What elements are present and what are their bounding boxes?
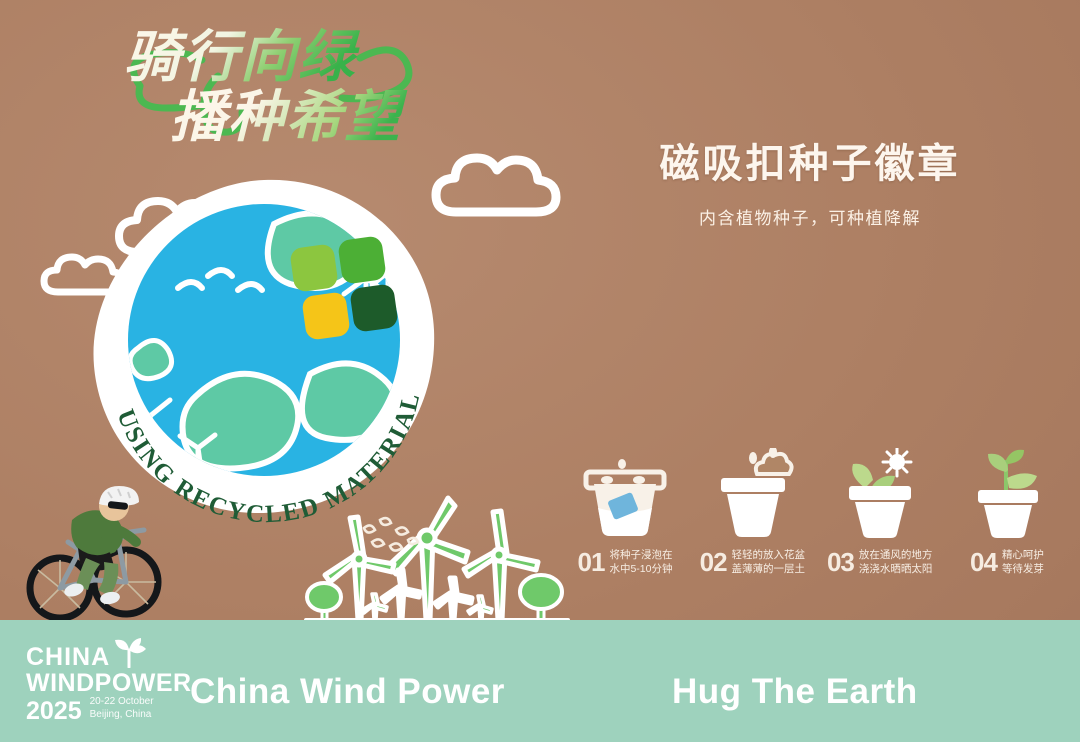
footer-title-hug-the-earth: Hug The Earth	[672, 672, 918, 712]
step-item-02: 02 轻轻的放入花盆 盖薄薄的一层土	[693, 446, 811, 576]
planting-steps: 01 将种子浸泡在 水中5-10分钟 02 轻	[566, 446, 1066, 576]
step-number: 01	[578, 549, 605, 575]
pot-with-sun-and-sprout-icon	[835, 446, 925, 538]
footer-bar: CHINA WINDPOWER 2025 20-22 October Beiji…	[0, 620, 1080, 742]
step-number: 04	[970, 549, 997, 575]
footer-title-china-wind-power: China Wind Power	[190, 672, 505, 712]
headline-line-2: 播种希望	[170, 85, 408, 148]
pot-with-grown-sprout-icon	[964, 446, 1050, 538]
step-text: 放在通风的地方 浇浇水晒晒太阳	[859, 548, 933, 576]
wind-turbine-scene	[300, 492, 570, 624]
logo-dates: 20-22 October	[90, 696, 154, 709]
logo-year: 2025	[26, 698, 82, 724]
pot-with-soil-and-water-drops-icon	[709, 446, 795, 538]
step-line-2: 浇浇水晒晒太阳	[859, 563, 933, 575]
headline-line-1: 骑行向绿	[124, 25, 361, 88]
china-windpower-logo: CHINA WINDPOWER 2025 20-22 October Beiji…	[26, 638, 194, 724]
cup-with-soaking-seed-icon	[582, 446, 668, 538]
headline-artwork: 骑行向绿 播种希望	[110, 14, 470, 154]
step-text: 将种子浸泡在 水中5-10分钟	[609, 548, 672, 576]
poster-canvas: 骑行向绿 播种希望	[0, 0, 1080, 742]
step-text: 轻轻的放入花盆 盖薄薄的一层土	[732, 548, 806, 576]
product-heading-block: 磁吸扣种子徽章 内含植物种子，可种植降解	[560, 140, 1060, 229]
step-caption-04: 04 精心呵护 等待发芽	[970, 548, 1044, 576]
logo-line-china: CHINA	[26, 646, 110, 670]
step-item-03: 03 放在通风的地方 浇浇水晒晒太阳	[821, 446, 939, 576]
step-line-2: 等待发芽	[1002, 563, 1044, 575]
logo-dates-location: 20-22 October Beijing, China	[90, 696, 154, 724]
step-number: 02	[700, 549, 727, 575]
step-line-1: 将种子浸泡在	[609, 549, 672, 561]
step-line-2: 水中5-10分钟	[609, 563, 672, 575]
step-line-2: 盖薄薄的一层土	[732, 563, 806, 575]
step-line-1: 精心呵护	[1002, 549, 1044, 561]
page-title: 磁吸扣种子徽章	[560, 140, 1060, 188]
logo-line-windpower: WINDPOWER	[26, 670, 194, 696]
step-line-1: 轻轻的放入花盆	[732, 549, 806, 561]
step-caption-01: 01 将种子浸泡在 水中5-10分钟	[578, 548, 673, 576]
cyclist-illustration	[22, 470, 182, 630]
step-caption-02: 02 轻轻的放入花盆 盖薄薄的一层土	[700, 548, 805, 576]
sun-icon	[883, 448, 911, 476]
step-caption-03: 03 放在通风的地方 浇浇水晒晒太阳	[827, 548, 932, 576]
step-number: 03	[827, 549, 854, 575]
step-item-04: 04 精心呵护 等待发芽	[948, 446, 1066, 576]
page-subtitle: 内含植物种子，可种植降解	[560, 204, 1060, 229]
logo-location: Beijing, China	[90, 709, 154, 722]
tree-icon-right	[520, 575, 562, 620]
step-text: 精心呵护 等待发芽	[1002, 548, 1044, 576]
step-item-01: 01 将种子浸泡在 水中5-10分钟	[566, 446, 684, 576]
tree-icon-left	[307, 583, 341, 620]
turbine-leaf-icon	[112, 638, 146, 668]
step-line-1: 放在通风的地方	[859, 549, 933, 561]
